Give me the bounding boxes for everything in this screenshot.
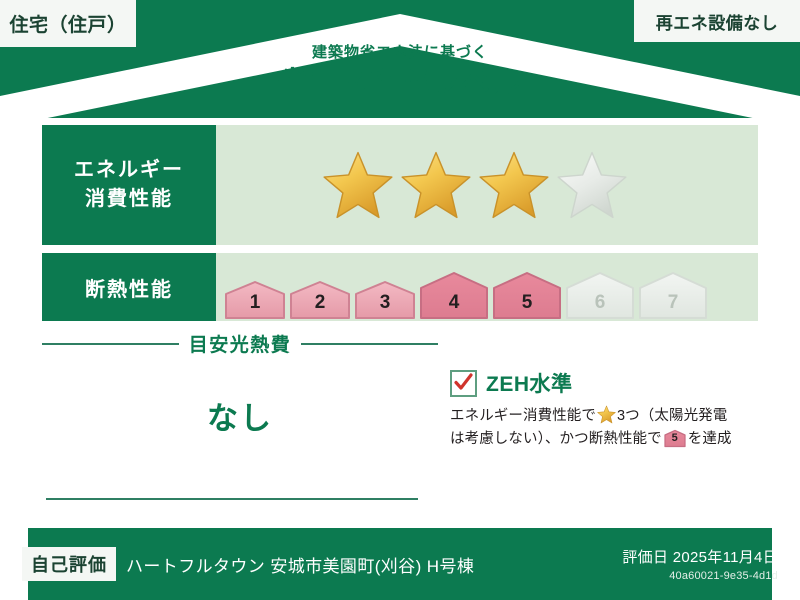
insulation-level-6: 6 bbox=[565, 269, 635, 321]
check-icon bbox=[453, 372, 474, 393]
document-id: 40a60021-9e35-4d1d bbox=[622, 570, 778, 582]
zeh-standard-block: ZEH水準 エネルギー消費性能で 3つ（太陽光発電 は考慮しない）、かつ断熱性能… bbox=[450, 368, 750, 452]
insulation-level-3-label: 3 bbox=[354, 292, 416, 314]
energy-label-root: 住宅（住戸） 再エネ設備なし 建築物省エネ法に基づく 省エネ性能ラベル エネルギ… bbox=[0, 0, 800, 600]
insulation-level-1: 1 bbox=[224, 277, 286, 321]
energy-performance-row: エネルギー 消費性能 bbox=[42, 125, 758, 245]
label-card: エネルギー 消費性能 bbox=[26, 118, 774, 528]
insulation-performance-label: 断熱性能 bbox=[42, 253, 216, 321]
insulation-level-7-label: 7 bbox=[638, 292, 708, 314]
divider-right bbox=[301, 343, 438, 345]
evaluation-date: 評価日 2025年11月4日 bbox=[622, 546, 778, 567]
insulation-level-5: 5 bbox=[492, 269, 562, 321]
label-footer: 自己評価 ハートフルタウン 安城市美園町(刈谷) H号棟 評価日 2025年11… bbox=[0, 528, 800, 600]
utility-cost-section: 目安光熱費 なし bbox=[42, 330, 438, 508]
insulation-level-scale: 1 2 3 bbox=[216, 253, 708, 321]
insulation-level-2: 2 bbox=[289, 277, 351, 321]
badge-renewable-energy: 再エネ設備なし bbox=[634, 0, 800, 42]
insulation-level-3: 3 bbox=[354, 277, 416, 321]
star-rating bbox=[216, 150, 628, 220]
insulation-level-5-label: 5 bbox=[492, 292, 562, 314]
insulation-level-4-label: 4 bbox=[419, 292, 489, 314]
divider-left bbox=[42, 343, 179, 345]
energy-performance-label: エネルギー 消費性能 bbox=[42, 125, 216, 245]
star-icon-empty-4 bbox=[556, 150, 628, 220]
zeh-desc-part3: を達成 bbox=[688, 431, 732, 447]
insulation-performance-value: 1 2 3 bbox=[216, 253, 758, 321]
utility-cost-bottom-divider bbox=[46, 498, 418, 500]
zeh-desc-star-count: 3つ（太陽光発電 bbox=[617, 408, 727, 424]
zeh-header: ZEH水準 bbox=[450, 368, 750, 398]
insulation-level-1-label: 1 bbox=[224, 292, 286, 314]
star-icon-filled-2 bbox=[400, 150, 472, 220]
property-name: ハートフルタウン 安城市美園町(刈谷) H号棟 bbox=[126, 552, 474, 577]
zeh-checkbox[interactable] bbox=[450, 370, 477, 397]
insulation-level-7: 7 bbox=[638, 269, 708, 321]
insulation-level-2-label: 2 bbox=[289, 292, 351, 314]
zeh-description: エネルギー消費性能で 3つ（太陽光発電 は考慮しない）、かつ断熱性能で 5 を達… bbox=[450, 405, 750, 452]
utility-cost-title: 目安光熱費 bbox=[189, 330, 292, 357]
label-title-block: 建築物省エネ法に基づく 省エネ性能ラベル bbox=[0, 44, 800, 101]
star-icon-filled-3 bbox=[478, 150, 550, 220]
insulation-level-4: 4 bbox=[419, 269, 489, 321]
energy-performance-label-line2: 消費性能 bbox=[85, 185, 173, 214]
utility-cost-value: なし bbox=[42, 393, 438, 438]
self-evaluation-badge: 自己評価 bbox=[22, 547, 116, 581]
zeh-desc-part2: は考慮しない）、かつ断熱性能で bbox=[450, 431, 662, 447]
star-icon-filled-1 bbox=[322, 150, 394, 220]
energy-performance-label-line1: エネルギー bbox=[74, 156, 184, 185]
insulation-level-6-label: 6 bbox=[565, 292, 635, 314]
energy-performance-value bbox=[216, 125, 758, 245]
zeh-desc-part1: エネルギー消費性能で bbox=[450, 408, 596, 424]
zeh-title: ZEH水準 bbox=[486, 368, 573, 398]
page-title: 省エネ性能ラベル bbox=[0, 66, 800, 101]
house-icon-inline-value: 5 bbox=[664, 430, 686, 448]
house-icon-inline-level: 5 bbox=[664, 429, 686, 448]
badge-housing-type: 住宅（住戸） bbox=[0, 0, 136, 47]
footer-left: 自己評価 ハートフルタウン 安城市美園町(刈谷) H号棟 bbox=[0, 547, 474, 581]
utility-cost-header: 目安光熱費 bbox=[42, 330, 438, 357]
footer-right: 評価日 2025年11月4日 40a60021-9e35-4d1d bbox=[622, 546, 800, 582]
star-icon-inline bbox=[597, 405, 616, 424]
insulation-performance-row: 断熱性能 bbox=[42, 253, 758, 321]
